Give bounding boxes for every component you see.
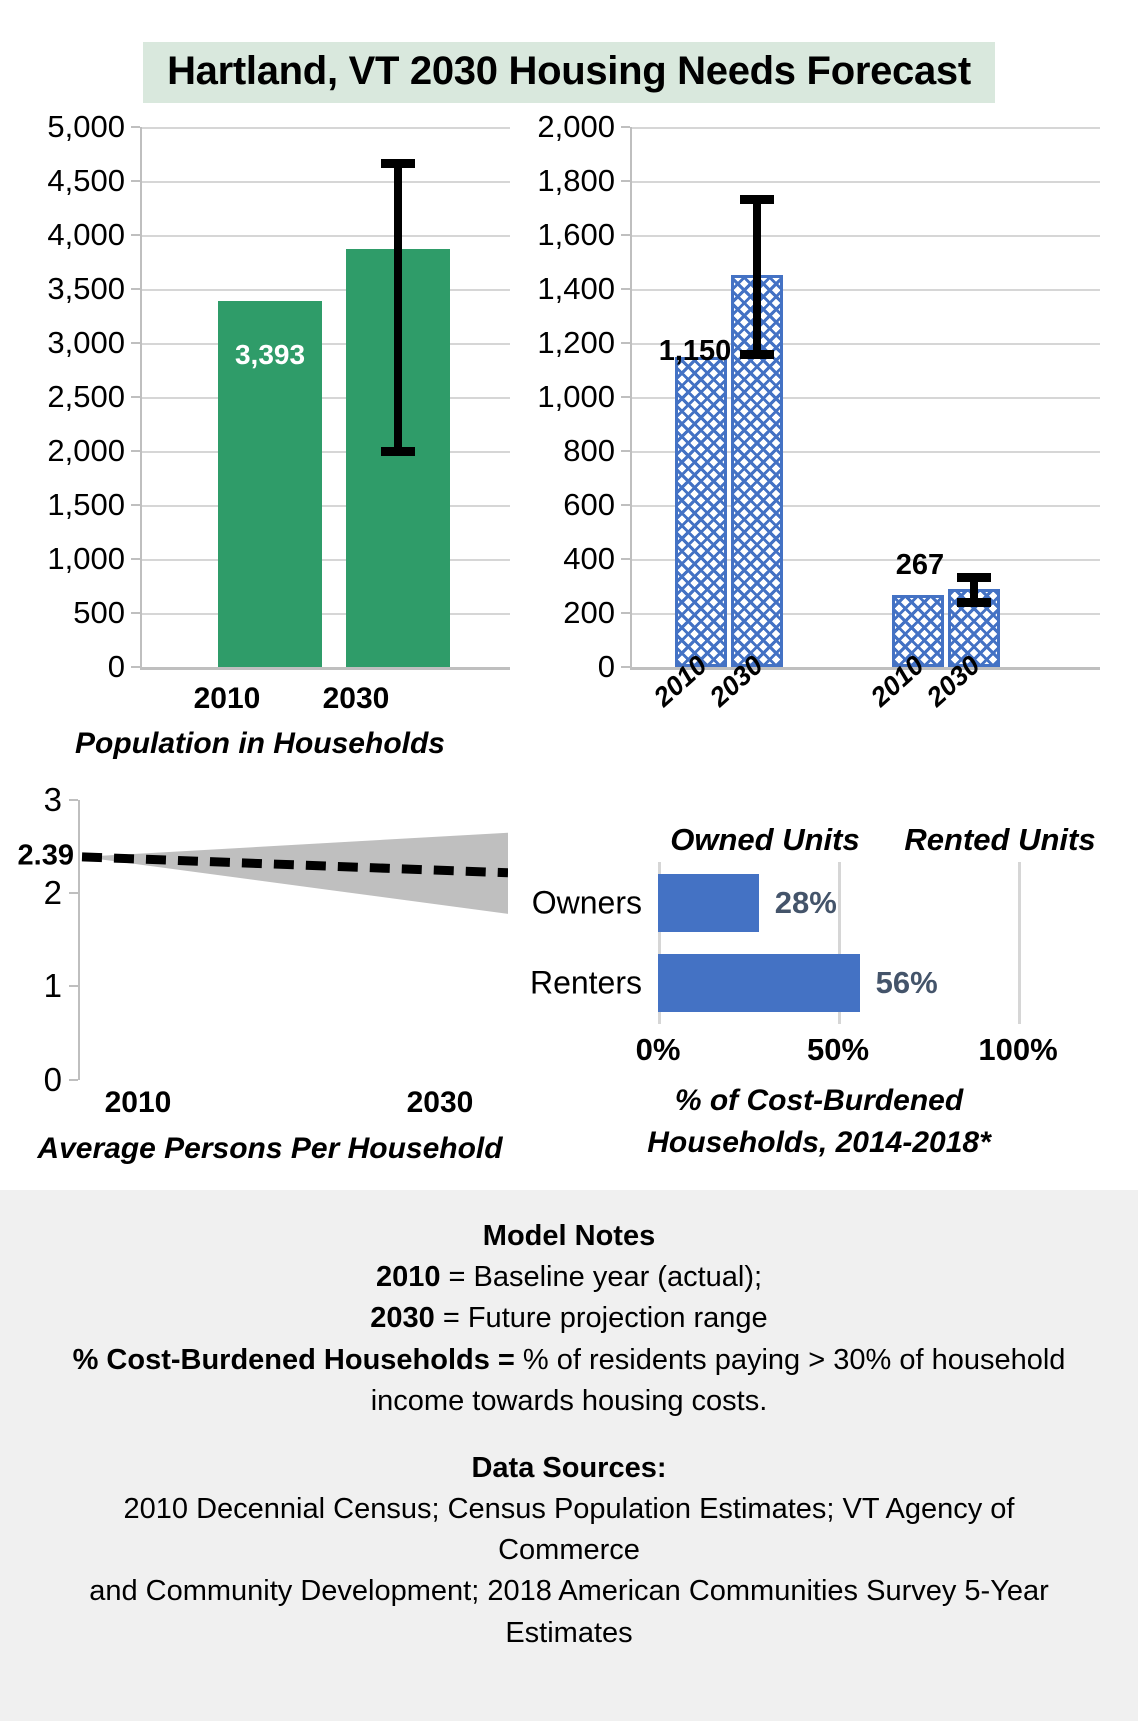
x-category-2030: 2030: [296, 682, 416, 716]
bar-owned-units-2010[interactable]: [675, 357, 727, 667]
y-axis-spine: [630, 127, 632, 667]
chart1-y-axis: 5,000 4,500 4,000 3,500 3,000 2,500 2,00…: [0, 127, 125, 667]
bar-value-label-2010: 3,393: [235, 339, 305, 371]
x-category-2010: 2010: [167, 682, 287, 716]
bar-rented-units-2010[interactable]: [892, 595, 944, 667]
axis-tick: [621, 504, 630, 506]
y-tick-label: 3: [44, 781, 62, 819]
error-bar-cap-lower-2030: [381, 447, 415, 456]
notes-line-1-term: 2010: [376, 1261, 441, 1293]
gridline: [140, 343, 510, 345]
data-sources-line-2: and Community Development; 2018 American…: [60, 1571, 1078, 1612]
axis-tick: [621, 666, 630, 668]
x-tick-label-50pct: 50%: [807, 1032, 869, 1068]
y-tick-label: 1,000: [537, 379, 615, 415]
y-tick-label: 2: [44, 874, 62, 912]
axis-tick: [621, 450, 630, 452]
gridline-100pct: [1018, 862, 1021, 1024]
y-tick-label: 3,500: [47, 271, 125, 307]
gridline: [140, 397, 510, 399]
notes-line-1-text: = Baseline year (actual);: [440, 1261, 762, 1293]
y-axis-spine: [140, 127, 142, 667]
axis-tick: [131, 126, 140, 128]
point-value-label-2010: 2.39: [16, 840, 76, 873]
y-tick-label: 5,000: [47, 109, 125, 145]
chart1-caption: Population in Households: [0, 727, 520, 761]
infographic-page: Hartland, VT 2030 Housing Needs Forecast…: [0, 0, 1138, 1721]
axis-tick: [131, 666, 140, 668]
y-tick-label: 1: [44, 967, 62, 1005]
gridline: [140, 289, 510, 291]
gridline: [140, 127, 510, 129]
y-tick-label: 500: [73, 595, 125, 631]
y-tick-label: 2,000: [537, 109, 615, 145]
y-tick-label: 3,000: [47, 325, 125, 361]
error-bar-cap-upper-owned-2030: [740, 195, 774, 204]
category-label-owners: Owners: [532, 885, 642, 922]
axis-tick: [69, 1079, 78, 1081]
x-tick-label-100pct: 100%: [978, 1032, 1057, 1068]
axis-tick: [621, 126, 630, 128]
notes-line-4: income towards housing costs.: [60, 1381, 1078, 1422]
category-label-renters: Renters: [530, 965, 642, 1002]
y-tick-label: 400: [563, 541, 615, 577]
chart1-plot-area: 3,393: [140, 127, 510, 667]
data-sources-heading: Data Sources:: [60, 1448, 1078, 1489]
chart-population-in-households: 5,000 4,500 4,000 3,500 3,000 2,500 2,00…: [0, 112, 520, 772]
y-tick-label: 1,400: [537, 271, 615, 307]
notes-spacer: [60, 1422, 1078, 1448]
chart3-plot-area: 2.39: [78, 800, 508, 1080]
y-tick-label: 200: [563, 595, 615, 631]
axis-tick: [131, 234, 140, 236]
axis-tick: [621, 180, 630, 182]
y-tick-label: 0: [598, 649, 615, 685]
gridline: [630, 289, 1100, 291]
chart4-plot-area: Owners 28% Renters 56% 0% 50% 100%: [658, 868, 1018, 1018]
data-sources-line-1: 2010 Decennial Census; Census Population…: [60, 1489, 1078, 1571]
chart4-caption-line1: % of Cost-Burdened: [500, 1084, 1138, 1118]
y-tick-label: 4,500: [47, 163, 125, 199]
gridline: [140, 559, 510, 561]
chart2-plot-area: 1,150 267: [630, 127, 1100, 667]
bar-value-label-rented-2010: 267: [896, 549, 944, 582]
y-tick-label: 1,000: [47, 541, 125, 577]
axis-tick: [131, 180, 140, 182]
y-tick-label: 1,200: [537, 325, 615, 361]
notes-heading: Model Notes: [60, 1216, 1078, 1257]
notes-line-2-text: = Future projection range: [435, 1302, 768, 1334]
gridline: [140, 181, 510, 183]
axis-tick: [131, 288, 140, 290]
error-bar-cap-lower-owned-2030: [740, 350, 774, 359]
gridline: [630, 235, 1100, 237]
axis-tick: [621, 288, 630, 290]
gridline: [140, 505, 510, 507]
axis-tick: [131, 504, 140, 506]
notes-line-3-term: % Cost-Burdened Households =: [73, 1344, 515, 1376]
bar-renters[interactable]: [658, 954, 860, 1012]
gridline: [630, 127, 1100, 129]
notes-line-1: 2010 = Baseline year (actual);: [60, 1257, 1078, 1298]
y-tick-label: 4,000: [47, 217, 125, 253]
x-category-2010: 2010: [58, 1086, 218, 1120]
notes-line-3-text: % of residents paying > 30% of household: [515, 1344, 1066, 1376]
axis-tick: [621, 558, 630, 560]
axis-tick: [131, 396, 140, 398]
gridline: [140, 235, 510, 237]
error-bar-cap-upper-rented-2030: [957, 573, 991, 582]
y-tick-label: 0: [108, 649, 125, 685]
chart2-y-axis: 2,000 1,800 1,600 1,400 1,200 1,000 800 …: [520, 127, 615, 667]
axis-tick: [131, 612, 140, 614]
page-title: Hartland, VT 2030 Housing Needs Forecast: [143, 42, 995, 103]
gridline: [140, 613, 510, 615]
bar-owners[interactable]: [658, 874, 759, 932]
y-tick-label: 2,500: [47, 379, 125, 415]
notes-line-3: % Cost-Burdened Households = % of reside…: [60, 1340, 1078, 1381]
trend-line-dashed: [78, 800, 508, 1080]
model-notes-panel: Model Notes 2010 = Baseline year (actual…: [0, 1190, 1138, 1721]
y-tick-label: 2,000: [47, 433, 125, 469]
chart3-caption: Average Persons Per Household: [0, 1132, 540, 1166]
x-category-2030: 2030: [360, 1086, 520, 1120]
y-tick-label: 800: [563, 433, 615, 469]
axis-tick: [621, 612, 630, 614]
axis-tick: [131, 342, 140, 344]
axis-tick: [69, 985, 78, 987]
y-tick-label: 1,500: [47, 487, 125, 523]
axis-tick: [69, 892, 78, 894]
y-tick-label: 1,600: [537, 217, 615, 253]
y-tick-label: 600: [563, 487, 615, 523]
error-bar-line-2030: [394, 159, 402, 455]
error-bar-cap-upper-2030: [381, 159, 415, 168]
chart-average-persons-per-household: 3 2 1 0 2.39 2010 2030 Average Persons P…: [0, 790, 540, 1160]
data-sources-line-3: Estimates: [60, 1613, 1078, 1654]
bar-value-label-renters: 56%: [876, 965, 938, 1001]
y-tick-label: 1,800: [537, 163, 615, 199]
chart-cost-burdened-households: Owners 28% Renters 56% 0% 50% 100% % of …: [500, 840, 1138, 1160]
axis-tick: [131, 450, 140, 452]
error-bar-line-owned-2030: [753, 195, 761, 358]
error-bar-cap-lower-rented-2030: [957, 598, 991, 607]
notes-line-2: 2030 = Future projection range: [60, 1298, 1078, 1339]
notes-line-2-term: 2030: [370, 1302, 435, 1334]
axis-tick: [131, 558, 140, 560]
axis-tick: [621, 234, 630, 236]
chart-housing-units: 2,000 1,800 1,600 1,400 1,200 1,000 800 …: [520, 112, 1138, 872]
axis-tick: [69, 799, 78, 801]
bar-value-label-owned-2010: 1,150: [659, 335, 732, 368]
axis-tick: [621, 342, 630, 344]
axis-baseline: [140, 667, 510, 670]
title-banner: Hartland, VT 2030 Housing Needs Forecast: [0, 42, 1138, 103]
x-tick-label-0pct: 0%: [636, 1032, 681, 1068]
bar-value-label-owners: 28%: [775, 885, 837, 921]
axis-tick: [621, 396, 630, 398]
chart4-caption-line2: Households, 2014-2018*: [500, 1126, 1138, 1160]
gridline: [140, 451, 510, 453]
gridline: [630, 181, 1100, 183]
